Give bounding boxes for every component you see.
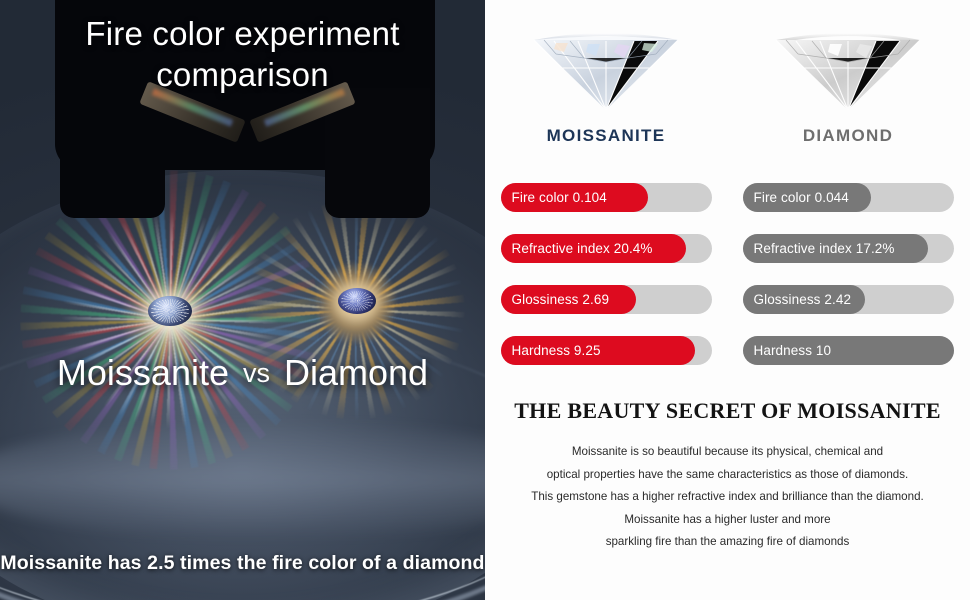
comparison-infographic: Fire color experiment comparison Moissan… xyxy=(0,0,970,600)
beauty-secret-body: Moissanite is so beautiful because its p… xyxy=(485,441,970,554)
versus-separator: vs xyxy=(229,358,284,388)
bar-cell-moissanite-hardness: Hardness 9.25 xyxy=(485,336,727,387)
photo-title: Fire color experiment comparison xyxy=(0,14,485,96)
bar-cell-moissanite-refractive-index: Refractive index 20.4% xyxy=(485,234,727,285)
bar-cell-moissanite-glossiness: Glossiness 2.69 xyxy=(485,285,727,336)
bar-cell-diamond-refractive-index: Refractive index 17.2% xyxy=(727,234,969,285)
bar-track: Refractive index 17.2% xyxy=(743,234,954,263)
bar-row-fire-color: Fire color 0.104 Fire color 0.044 xyxy=(485,183,970,234)
beauty-secret-section: THE BEAUTY SECRET OF MOISSANITE Moissani… xyxy=(485,396,970,554)
bar-label-moissanite-hardness: Hardness 9.25 xyxy=(512,336,601,365)
versus-row: MoissanitevsDiamond xyxy=(0,352,485,394)
gem-figure-moissanite: MOISSANITE xyxy=(485,10,727,146)
bar-cell-diamond-hardness: Hardness 10 xyxy=(727,336,969,387)
spec-bars: Fire color 0.104 Fire color 0.044 Refrac… xyxy=(485,183,970,387)
bar-track: Hardness 10 xyxy=(743,336,954,365)
bar-track: Glossiness 2.69 xyxy=(501,285,712,314)
gem-figures: MOISSANITE xyxy=(485,0,970,146)
bar-cell-diamond-fire-color: Fire color 0.044 xyxy=(727,183,969,234)
bar-row-refractive-index: Refractive index 20.4% Refractive index … xyxy=(485,234,970,285)
diamond-gem-icon xyxy=(727,10,969,122)
bar-row-glossiness: Glossiness 2.69 Glossiness 2.42 xyxy=(485,285,970,336)
bar-label-moissanite-glossiness: Glossiness 2.69 xyxy=(512,285,610,314)
bar-track: Hardness 9.25 xyxy=(501,336,712,365)
body-line-2: optical properties have the same charact… xyxy=(485,464,970,487)
body-line-1: Moissanite is so beautiful because its p… xyxy=(485,441,970,464)
body-line-5: sparkling fire than the amazing fire of … xyxy=(485,531,970,554)
bar-label-diamond-glossiness: Glossiness 2.42 xyxy=(754,285,852,314)
bar-cell-moissanite-fire-color: Fire color 0.104 xyxy=(485,183,727,234)
moissanite-stone-icon xyxy=(148,296,192,326)
gem-name-moissanite: MOISSANITE xyxy=(485,126,727,146)
bar-track: Fire color 0.104 xyxy=(501,183,712,212)
bar-track: Refractive index 20.4% xyxy=(501,234,712,263)
beauty-secret-heading: THE BEAUTY SECRET OF MOISSANITE xyxy=(485,396,970,425)
body-line-4: Moissanite has a higher luster and more xyxy=(485,509,970,532)
body-line-3: This gemstone has a higher refractive in… xyxy=(485,486,970,509)
bar-label-diamond-refractive-index: Refractive index 17.2% xyxy=(754,234,895,263)
bar-label-moissanite-refractive-index: Refractive index 20.4% xyxy=(512,234,653,263)
moissanite-gem-icon xyxy=(485,10,727,122)
versus-right-label: Diamond xyxy=(284,352,428,393)
bar-label-diamond-fire-color: Fire color 0.044 xyxy=(754,183,849,212)
bar-label-diamond-hardness: Hardness 10 xyxy=(754,336,832,365)
heading-line-1: THE BEAUTY SECRET xyxy=(514,398,755,423)
fire-experiment-photo: Fire color experiment comparison Moissan… xyxy=(0,0,485,600)
bar-label-moissanite-fire-color: Fire color 0.104 xyxy=(512,183,607,212)
bar-cell-diamond-glossiness: Glossiness 2.42 xyxy=(727,285,969,336)
gem-name-diamond: DIAMOND xyxy=(727,126,969,146)
versus-left-label: Moissanite xyxy=(57,352,229,393)
bar-track: Glossiness 2.42 xyxy=(743,285,954,314)
bar-row-hardness: Hardness 9.25 Hardness 10 xyxy=(485,336,970,387)
heading-line-2: OF MOISSANITE xyxy=(761,398,941,423)
spec-comparison-panel: MOISSANITE xyxy=(485,0,970,600)
bar-track: Fire color 0.044 xyxy=(743,183,954,212)
gem-figure-diamond: DIAMOND xyxy=(727,10,969,146)
diamond-stone-icon xyxy=(338,288,376,314)
photo-caption: Moissanite has 2.5 times the fire color … xyxy=(0,552,485,575)
